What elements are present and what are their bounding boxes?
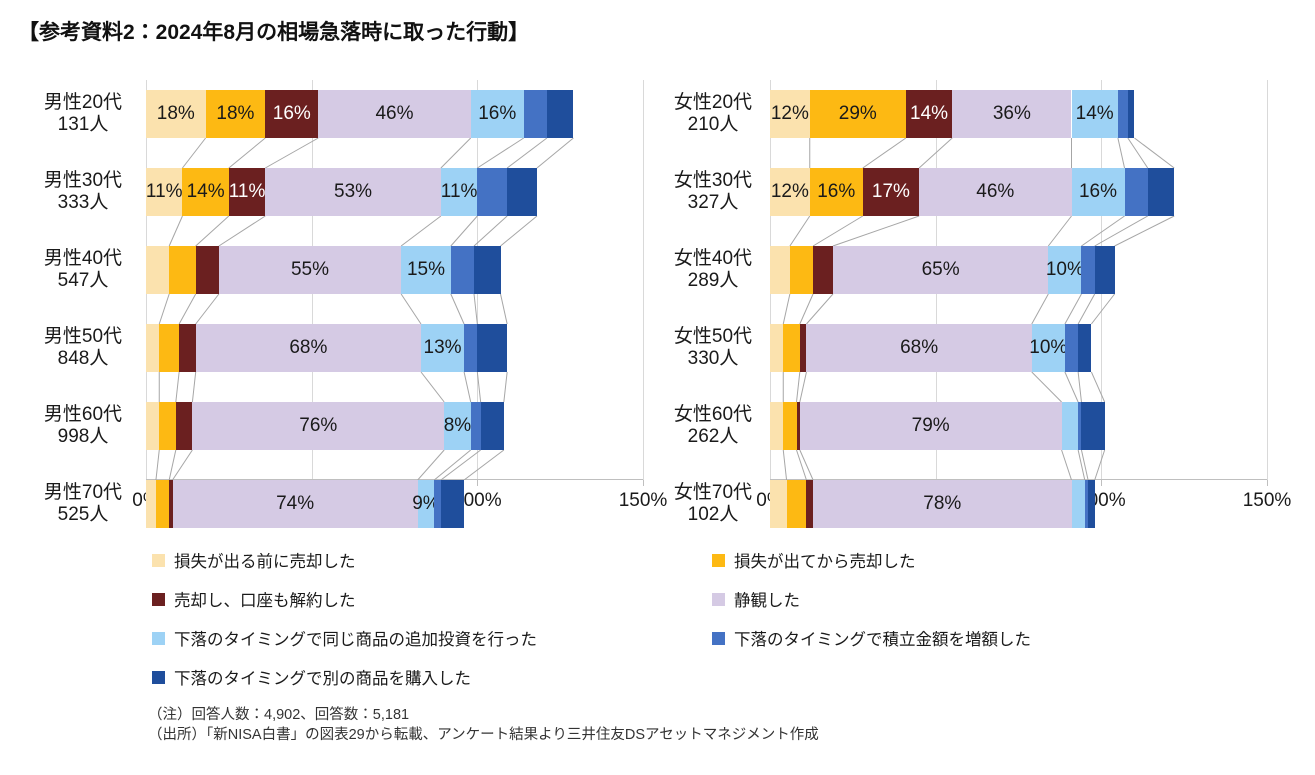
legend-item-added_same_product: 下落のタイミングで同じ商品の追加投資を行った [152, 626, 712, 650]
bar-segment-value: 18% [216, 103, 254, 125]
bar-segment: 11% [229, 168, 265, 216]
bar-segment [787, 480, 807, 528]
bar-row: 12%29%14%36%14% [770, 90, 1267, 138]
bar-segment: 12% [770, 168, 810, 216]
bar-segment [481, 402, 504, 450]
legend-swatch-icon [712, 593, 725, 606]
bar-segment [1078, 324, 1091, 372]
bar-segment [547, 90, 574, 138]
category-label-count: 262人 [658, 426, 768, 448]
note-line: （出所）「新NISA白書」の図表29から転載、アンケート結果より三井住友DSアセ… [148, 725, 819, 745]
bar-segment-value: 46% [976, 181, 1014, 203]
legend-swatch-icon [152, 671, 165, 684]
bar-segment [1081, 402, 1104, 450]
bar-segment [196, 246, 219, 294]
bar-segment-value: 68% [289, 337, 327, 359]
bar-segment [477, 324, 507, 372]
bar-segment [1081, 246, 1094, 294]
bar-segment: 11% [441, 168, 477, 216]
bar-segment [783, 402, 796, 450]
category-label-group: 女性50代 [674, 326, 752, 347]
bar-segment [1065, 324, 1078, 372]
bar-segment [146, 324, 159, 372]
legend-item-watched: 静観した [712, 587, 1272, 611]
chart-panel-male: 男性20代131人男性30代333人男性40代547人男性50代848人男性60… [18, 80, 658, 495]
bar-segment-value: 79% [912, 415, 950, 437]
category-label-count: 210人 [658, 114, 768, 136]
bar-segment-value: 68% [900, 337, 938, 359]
bar-segment [146, 480, 156, 528]
bar-segment: 53% [265, 168, 441, 216]
bar-row: 68%10% [770, 324, 1267, 372]
bar-segment-value: 65% [922, 259, 960, 281]
category-label-count: 102人 [658, 504, 768, 526]
bar-segment-value: 16% [478, 103, 516, 125]
bar-segment-value: 14% [187, 181, 225, 203]
bar-segment: 17% [863, 168, 919, 216]
note-line: （注）回答人数：4,902、回答数：5,181 [148, 705, 819, 725]
category-label-count: 547人 [28, 270, 138, 292]
bar-segment: 76% [192, 402, 444, 450]
bar-segment: 16% [471, 90, 524, 138]
bar-segment: 14% [182, 168, 228, 216]
bar-segment: 14% [1072, 90, 1118, 138]
bar-segment [1128, 90, 1135, 138]
bar-segment-value: 29% [839, 103, 877, 125]
bar-segment [770, 402, 783, 450]
bar-segment: 36% [952, 90, 1071, 138]
category-label-group: 男性50代 [44, 326, 122, 347]
bar-segment: 16% [1072, 168, 1125, 216]
category-label-count: 330人 [658, 348, 768, 370]
bar-segment [524, 90, 547, 138]
bar-segment: 74% [173, 480, 418, 528]
bar-segment-value: 16% [273, 103, 311, 125]
category-label-group: 男性40代 [44, 248, 122, 269]
category-label-group: 女性40代 [674, 248, 752, 269]
bar-segment-value: 76% [299, 415, 337, 437]
category-label: 男性40代547人 [28, 248, 138, 292]
bar-segment [813, 246, 833, 294]
bar-segment [169, 246, 196, 294]
category-label: 男性70代525人 [28, 482, 138, 526]
bar-segment: 68% [806, 324, 1031, 372]
bar-segment [471, 402, 481, 450]
bar-segment: 15% [401, 246, 451, 294]
bar-segment-value: 17% [872, 181, 910, 203]
plot-area-male: 0%50%100%150%18%18%16%46%16%11%14%11%53%… [146, 80, 643, 480]
legend-label: 下落のタイミングで同じ商品の追加投資を行った [174, 626, 537, 650]
bar-segment [146, 402, 159, 450]
bar-segment [783, 324, 800, 372]
legend-label: 下落のタイミングで別の商品を購入した [174, 665, 471, 689]
bar-segment [474, 246, 501, 294]
bar-segment [1118, 90, 1128, 138]
legend-swatch-icon [712, 632, 725, 645]
bar-segment: 68% [196, 324, 421, 372]
bar-row: 18%18%16%46%16% [146, 90, 643, 138]
bar-segment-value: 8% [444, 415, 471, 437]
gridline [1267, 80, 1268, 480]
bar-segment-value: 78% [923, 493, 961, 515]
bar-segment [790, 246, 813, 294]
bar-row: 76%8% [146, 402, 643, 450]
bar-segment: 16% [810, 168, 863, 216]
bar-segment [1062, 402, 1079, 450]
category-label: 男性50代848人 [28, 326, 138, 370]
bar-segment: 46% [318, 90, 470, 138]
category-label: 女性70代102人 [658, 482, 768, 526]
legend-row: 下落のタイミングで同じ商品の追加投資を行った下落のタイミングで積立金額を増額した [152, 626, 1272, 650]
bar-segment-value: 16% [1079, 181, 1117, 203]
bar-segment-value: 12% [771, 181, 809, 203]
bar-segment-value: 10% [1029, 337, 1067, 359]
bar-segment [441, 480, 464, 528]
bar-segment [146, 246, 169, 294]
bar-segment [464, 324, 477, 372]
bar-segment [159, 402, 176, 450]
category-label-group: 女性20代 [674, 92, 752, 113]
legend-row: 売却し、口座も解約した静観した [152, 587, 1272, 611]
category-labels-female: 女性20代210人女性30代327人女性40代289人女性50代330人女性60… [658, 80, 768, 480]
category-label-group: 男性20代 [44, 92, 122, 113]
legend-label: 損失が出る前に売却した [174, 548, 356, 572]
category-label-group: 女性30代 [674, 170, 752, 191]
legend-swatch-icon [712, 554, 725, 567]
bar-segment: 65% [833, 246, 1048, 294]
category-label-count: 289人 [658, 270, 768, 292]
bar-segment: 9% [418, 480, 435, 528]
bar-segment [477, 168, 507, 216]
legend-item-sold_before_loss: 損失が出る前に売却した [152, 548, 712, 572]
bar-segment: 11% [146, 168, 182, 216]
bar-segment: 14% [906, 90, 952, 138]
bar-segment-value: 12% [771, 103, 809, 125]
legend-swatch-icon [152, 632, 165, 645]
legend-swatch-icon [152, 593, 165, 606]
bar-segment-value: 16% [817, 181, 855, 203]
category-label-count: 327人 [658, 192, 768, 214]
bar-segment: 13% [421, 324, 464, 372]
bar-row: 65%10% [770, 246, 1267, 294]
chart-legend: 損失が出る前に売却した損失が出てから売却した売却し、口座も解約した静観した下落の… [152, 548, 1272, 704]
legend-row: 下落のタイミングで別の商品を購入した [152, 665, 1272, 689]
page-title: 【参考資料2：2024年8月の相場急落時に取った行動】 [18, 16, 529, 46]
chart-notes: （注）回答人数：4,902、回答数：5,181（出所）「新NISA白書」の図表2… [148, 705, 819, 745]
legend-label: 静観した [734, 587, 800, 611]
axis-tick [1267, 480, 1268, 486]
bar-segment [507, 168, 537, 216]
bar-segment [1072, 480, 1085, 528]
legend-item-bought_other: 下落のタイミングで別の商品を購入した [152, 665, 712, 689]
bar-row: 12%16%17%46%16% [770, 168, 1267, 216]
category-label-count: 525人 [28, 504, 138, 526]
category-label-group: 男性70代 [44, 482, 122, 503]
legend-swatch-icon [152, 554, 165, 567]
bar-segment [770, 324, 783, 372]
bar-segment [770, 246, 790, 294]
bar-segment: 18% [146, 90, 206, 138]
bar-segment-value: 13% [424, 337, 462, 359]
category-label-group: 女性60代 [674, 404, 752, 425]
category-label: 男性20代131人 [28, 92, 138, 136]
bar-segment [800, 324, 807, 372]
bar-row: 78% [770, 480, 1267, 528]
bar-segment-value: 74% [276, 493, 314, 515]
category-label: 女性40代289人 [658, 248, 768, 292]
plot-area-female: 0%50%100%150%12%29%14%36%14%12%16%17%46%… [770, 80, 1267, 480]
bar-segment-value: 15% [407, 259, 445, 281]
bar-segment [1148, 168, 1175, 216]
bar-segment [434, 480, 441, 528]
legend-row: 損失が出る前に売却した損失が出てから売却した [152, 548, 1272, 572]
bar-segment-value: 11% [229, 181, 266, 203]
category-label-group: 男性30代 [44, 170, 122, 191]
bar-segment-value: 14% [910, 103, 948, 125]
bar-row: 55%15% [146, 246, 643, 294]
bar-segment [159, 324, 179, 372]
bar-segment: 10% [1032, 324, 1065, 372]
legend-label: 売却し、口座も解約した [174, 587, 356, 611]
bar-segment-value: 18% [157, 103, 195, 125]
bar-segment: 46% [919, 168, 1071, 216]
legend-item-sold_after_loss: 損失が出てから売却した [712, 548, 1272, 572]
bar-segment-value: 46% [375, 103, 413, 125]
bar-segment [179, 324, 196, 372]
category-label-count: 333人 [28, 192, 138, 214]
gridline [643, 80, 644, 480]
bar-segment [1088, 480, 1095, 528]
category-label-count: 131人 [28, 114, 138, 136]
bar-segment-value: 36% [993, 103, 1031, 125]
legend-item-empty [712, 665, 1272, 689]
category-label: 女性20代210人 [658, 92, 768, 136]
bar-segment: 78% [813, 480, 1071, 528]
bar-segment-value: 11% [146, 181, 183, 203]
bar-segment-value: 10% [1046, 259, 1084, 281]
bar-segment: 18% [206, 90, 266, 138]
bar-segment [806, 480, 813, 528]
category-label-count: 998人 [28, 426, 138, 448]
category-label-count: 848人 [28, 348, 138, 370]
axis-tick [643, 480, 644, 486]
bar-segment: 10% [1048, 246, 1081, 294]
bar-segment [1095, 246, 1115, 294]
category-label-group: 女性70代 [674, 482, 752, 503]
category-label: 女性60代262人 [658, 404, 768, 448]
bar-segment [1125, 168, 1148, 216]
bar-segment: 55% [219, 246, 401, 294]
bar-segment [770, 480, 787, 528]
bar-row: 74%9% [146, 480, 643, 528]
bar-segment: 12% [770, 90, 810, 138]
bar-segment-value: 53% [334, 181, 372, 203]
category-label-group: 男性60代 [44, 404, 122, 425]
bar-segment-value: 11% [441, 181, 478, 203]
legend-item-increased_monthly: 下落のタイミングで積立金額を増額した [712, 626, 1272, 650]
chart-panel-female: 女性20代210人女性30代327人女性40代289人女性50代330人女性60… [650, 80, 1300, 495]
legend-label: 損失が出てから売却した [734, 548, 916, 572]
bar-segment-value: 14% [1076, 103, 1114, 125]
category-label: 男性60代998人 [28, 404, 138, 448]
bar-row: 11%14%11%53%11% [146, 168, 643, 216]
bar-row: 68%13% [146, 324, 643, 372]
category-label: 女性50代330人 [658, 326, 768, 370]
bar-segment: 8% [444, 402, 471, 450]
category-label: 女性30代327人 [658, 170, 768, 214]
bar-segment: 29% [810, 90, 906, 138]
category-label: 男性30代333人 [28, 170, 138, 214]
bar-segment [156, 480, 169, 528]
bar-segment [451, 246, 474, 294]
bar-segment [176, 402, 193, 450]
legend-label: 下落のタイミングで積立金額を増額した [734, 626, 1031, 650]
bar-segment: 79% [800, 402, 1062, 450]
bar-segment-value: 55% [291, 259, 329, 281]
bar-segment: 16% [265, 90, 318, 138]
bar-row: 79% [770, 402, 1267, 450]
category-labels-male: 男性20代131人男性30代333人男性40代547人男性50代848人男性60… [28, 80, 138, 480]
legend-item-sold_closed_account: 売却し、口座も解約した [152, 587, 712, 611]
